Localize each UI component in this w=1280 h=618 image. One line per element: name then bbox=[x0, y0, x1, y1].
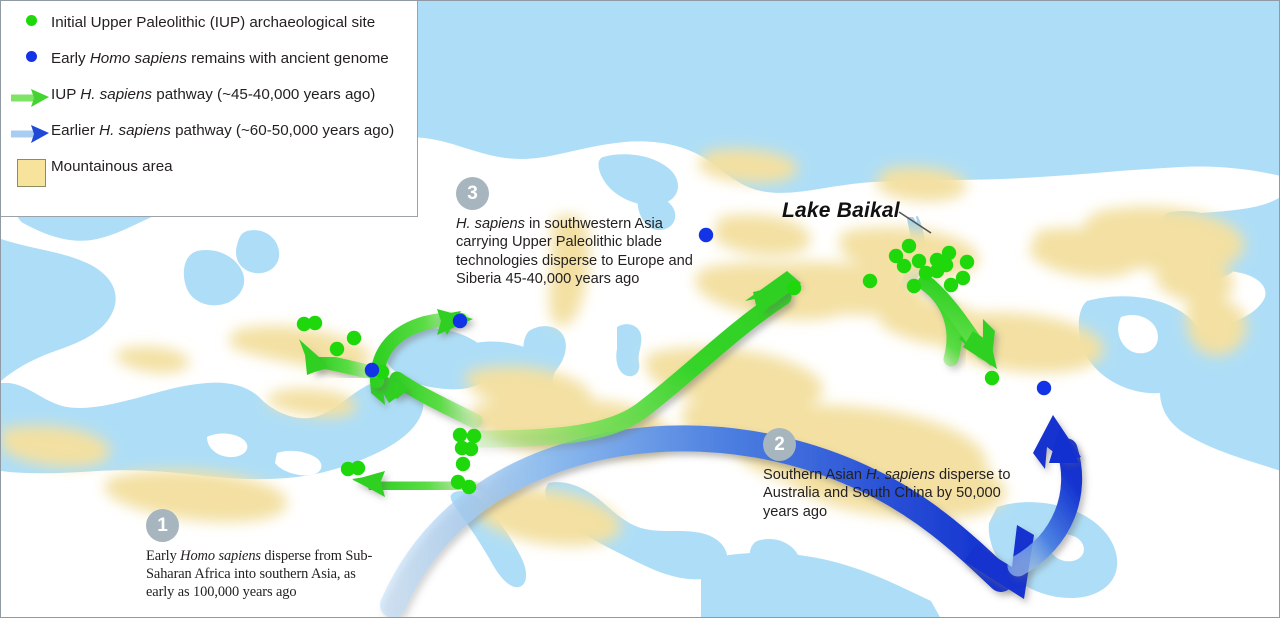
iup-site-dot bbox=[351, 461, 365, 475]
iup-site-dot bbox=[347, 331, 361, 345]
legend-item-iup-pathway: IUP H. sapiens pathway (~45-40,000 years… bbox=[1, 83, 417, 119]
dispersal-map-figure: Initial Upper Paleolithic (IUP) archaeol… bbox=[0, 0, 1280, 618]
iup-site-dot bbox=[907, 279, 921, 293]
annotation-3: 3 H. sapiens in southwestern Asia carryi… bbox=[456, 177, 704, 289]
genome-site-dot bbox=[1037, 381, 1051, 395]
annotation-text-2: Southern Asian H. sapiens disperse to Au… bbox=[763, 466, 1025, 521]
iup-site-dot bbox=[787, 281, 801, 295]
lake-baikal-label: Lake Baikal bbox=[782, 199, 900, 223]
green-dot-icon bbox=[11, 13, 51, 26]
genome-site-dot bbox=[453, 314, 467, 328]
legend-label-genome: Early Homo sapiens remains with ancient … bbox=[51, 49, 389, 68]
iup-site-dot bbox=[863, 274, 877, 288]
legend-label-mountainous: Mountainous area bbox=[51, 157, 173, 176]
iup-site-dot bbox=[308, 316, 322, 330]
iup-site-dot bbox=[453, 428, 467, 442]
iup-site-dot bbox=[956, 271, 970, 285]
legend-item-genome: Early Homo sapiens remains with ancient … bbox=[1, 47, 417, 83]
iup-site-dot bbox=[902, 239, 916, 253]
legend-item-iup-site: Initial Upper Paleolithic (IUP) archaeol… bbox=[1, 11, 417, 47]
annotation-badge-1: 1 bbox=[146, 509, 179, 542]
iup-site-dot bbox=[960, 255, 974, 269]
iup-site-dot bbox=[464, 442, 478, 456]
annotation-text-3: H. sapiens in southwestern Asia carrying… bbox=[456, 215, 704, 289]
iup-site-dot bbox=[467, 429, 481, 443]
iup-site-dot bbox=[897, 259, 911, 273]
iup-site-dot bbox=[456, 457, 470, 471]
legend-item-earlier-pathway: Earlier H. sapiens pathway (~60-50,000 y… bbox=[1, 119, 417, 155]
annotation-1: 1 Early Homo sapiens disperse from Sub-S… bbox=[146, 509, 386, 601]
mountain-swatch-icon bbox=[11, 157, 51, 187]
legend-label-earlier-pathway: Earlier H. sapiens pathway (~60-50,000 y… bbox=[51, 121, 394, 140]
iup-site-dot bbox=[912, 254, 926, 268]
blue-arrow-icon bbox=[11, 121, 51, 143]
iup-site-dot bbox=[942, 246, 956, 260]
iup-site-dot bbox=[462, 480, 476, 494]
annotation-badge-3: 3 bbox=[456, 177, 489, 210]
green-arrow-icon bbox=[11, 85, 51, 107]
blue-dot-icon bbox=[11, 49, 51, 62]
annotation-text-1: Early Homo sapiens disperse from Sub-Sah… bbox=[146, 547, 386, 601]
annotation-badge-2: 2 bbox=[763, 428, 796, 461]
iup-site-dot bbox=[930, 264, 944, 278]
legend-label-iup-site: Initial Upper Paleolithic (IUP) archaeol… bbox=[51, 13, 375, 32]
iup-site-dot bbox=[944, 278, 958, 292]
annotation-2: 2 Southern Asian H. sapiens disperse to … bbox=[763, 428, 1025, 521]
iup-site-dot bbox=[985, 371, 999, 385]
iup-site-dot bbox=[330, 342, 344, 356]
legend-item-mountainous: Mountainous area bbox=[1, 155, 417, 191]
legend-label-iup-pathway: IUP H. sapiens pathway (~45-40,000 years… bbox=[51, 85, 375, 104]
genome-site-dot bbox=[365, 363, 379, 377]
map-legend: Initial Upper Paleolithic (IUP) archaeol… bbox=[1, 1, 418, 217]
